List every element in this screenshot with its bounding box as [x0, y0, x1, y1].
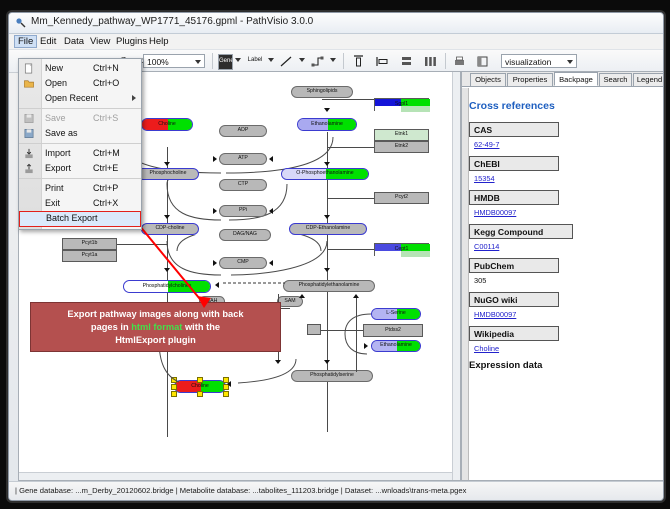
arrow-icon [213, 260, 217, 266]
menu-item-open-recent-label: Open Recent [45, 93, 98, 103]
annotation-callout: Export pathway images along with back pa… [30, 302, 281, 352]
menu-separator [19, 178, 141, 179]
menu-item-import[interactable]: Import Ctrl+M [19, 146, 141, 161]
menu-help[interactable]: Help [146, 36, 172, 47]
chevron-right-icon [132, 95, 136, 101]
align-left-icon[interactable] [375, 54, 390, 69]
canvas-vertical-scrollbar[interactable] [452, 72, 460, 480]
node-dag-nag[interactable]: DAG/NAG [219, 229, 271, 241]
menu-item-save-as[interactable]: Save as [19, 126, 141, 141]
menu-separator [19, 143, 141, 144]
menu-item-exit-label: Exit [45, 198, 60, 208]
menu-item-export-label: Export [45, 163, 71, 173]
arrow-icon [324, 162, 330, 166]
arrow-icon [324, 268, 330, 272]
side-panel-tabstrip: Objects Properties Backpage Search Legen… [462, 72, 663, 87]
arrow-icon [269, 260, 273, 266]
xref-value-hmdb[interactable]: HMDB00097 [474, 208, 657, 217]
arrow-icon [324, 360, 330, 364]
xref-value-wikipedia[interactable]: Choline [474, 344, 657, 353]
arrow-icon [269, 208, 273, 214]
xref-value-chebi[interactable]: 15354 [474, 174, 657, 183]
tab-search[interactable]: Search [599, 73, 632, 86]
xref-value-cas[interactable]: 62-49-7 [474, 140, 657, 149]
selection-handle[interactable] [171, 391, 177, 397]
xref-value-nugo[interactable]: HMDB00097 [474, 310, 657, 319]
menu-item-exit-accel: Ctrl+X [93, 198, 118, 208]
arrow-icon [164, 268, 170, 272]
menu-item-save-accel: Ctrl+S [93, 113, 118, 123]
line-dropdown-icon[interactable] [299, 58, 305, 62]
menu-item-print-label: Print [45, 183, 64, 193]
menu-data[interactable]: Data [61, 36, 87, 47]
node-adp[interactable]: ADP [219, 125, 267, 137]
xref-group-hmdb: HMDB HMDB00097 [469, 190, 657, 217]
xref-value-kegg[interactable]: C00114 [474, 242, 657, 251]
xref-label-hmdb: HMDB [469, 190, 559, 205]
visualization-combobox[interactable]: visualization [501, 54, 577, 68]
tab-properties[interactable]: Properties [507, 73, 553, 86]
menu-item-open-recent[interactable]: Open Recent [19, 91, 141, 106]
status-bar: | Gene database: ...m_Derby_20120602.bri… [9, 481, 663, 500]
callout-line-2a: pages in [91, 322, 131, 332]
node-pcyt1a[interactable]: Pcyt1a [62, 250, 117, 262]
edge-pemt-dashed [211, 277, 291, 291]
xref-group-nugo: NuGO wiki HMDB00097 [469, 292, 657, 319]
xref-label-pubchem: PubChem [469, 258, 559, 273]
callout-line-3: HtmlExport plugin [115, 335, 196, 345]
node-phosphatidylethanolamine[interactable]: Phosphatidylethanolamine [283, 280, 375, 292]
new-file-icon [23, 63, 35, 74]
node-ppi[interactable]: PPi [219, 205, 267, 217]
node-cdp-choline[interactable]: CDP-choline [141, 223, 199, 235]
backpage-content: Cross references CAS 62-49-7 ChEBI 15354… [469, 88, 657, 480]
stack-vertical-icon[interactable] [399, 54, 414, 69]
node-phosphatidylcholines[interactable]: Phosphatidylcholines [123, 280, 211, 293]
callout-html-format: html format [131, 322, 182, 332]
xref-group-pubchem: PubChem 305 [469, 258, 657, 285]
menu-item-export-accel: Ctrl+E [93, 163, 118, 173]
menu-separator [19, 108, 141, 109]
node-sphingolipids[interactable]: Sphingolipids [291, 86, 353, 98]
arrow-icon [213, 156, 217, 162]
node-etnk1[interactable]: Etnk1 [374, 129, 429, 141]
zoom-value: 100% [147, 57, 169, 67]
align-top-icon[interactable] [351, 54, 366, 69]
screenshot-root: Mm_Kennedy_pathway_WP1771_45176.gpml - P… [0, 0, 670, 509]
callout-line-2c: with the [182, 322, 220, 332]
edge-ps-to-choline [224, 357, 304, 389]
toggle-sidebar-icon[interactable] [475, 54, 490, 69]
print-icon[interactable] [452, 54, 467, 69]
interaction-tool-icon[interactable] [310, 54, 325, 69]
menu-item-new[interactable]: New Ctrl+N [19, 61, 141, 76]
node-pcyt1b[interactable]: Pcyt1b [62, 238, 117, 250]
visualization-value: visualization [505, 57, 551, 67]
file-menu-dropdown[interactable]: New Ctrl+N Open Ctrl+O Open Recent Save … [18, 58, 142, 230]
node-o-phosphoethanolamine[interactable]: O-Phosphoethanolamine [281, 168, 369, 180]
expression-data-heading: Expression data [469, 360, 657, 371]
distribute-icon[interactable] [423, 54, 438, 69]
node-cdp-ethanolamine[interactable]: CDP-Ethanolamine [289, 223, 367, 235]
menu-item-export[interactable]: Export Ctrl+E [19, 161, 141, 176]
import-icon [23, 148, 35, 159]
menu-bar: File Edit Data View Plugins Help [9, 34, 663, 50]
open-folder-icon [23, 78, 35, 89]
datanode-dropdown-icon[interactable] [235, 58, 241, 62]
chevron-down-icon [195, 60, 201, 64]
application-window: Mm_Kennedy_pathway_WP1771_45176.gpml - P… [8, 12, 664, 501]
window-title: Mm_Kennedy_pathway_WP1771_45176.gpml - P… [31, 16, 313, 27]
menu-item-exit[interactable]: Exit Ctrl+X [19, 196, 141, 211]
node-cept1[interactable]: Cept1 [374, 243, 429, 256]
menu-plugins[interactable]: Plugins [113, 36, 150, 47]
tab-legend[interactable]: Legend [633, 73, 664, 86]
xref-label-nugo: NuGO wiki [469, 292, 559, 307]
menu-item-open[interactable]: Open Ctrl+O [19, 76, 141, 91]
arrow-icon [324, 215, 330, 219]
canvas-horizontal-scrollbar[interactable] [19, 472, 460, 480]
chevron-down-icon [567, 60, 573, 64]
menu-item-batch-export-label: Batch Export [46, 213, 98, 223]
menu-item-open-label: Open [45, 78, 67, 88]
arrow-icon [299, 294, 305, 298]
interaction-dropdown-icon[interactable] [330, 58, 336, 62]
menu-view[interactable]: View [87, 36, 113, 47]
node-phosphocholine[interactable]: Phosphocholine [137, 168, 199, 180]
node-ctp[interactable]: CTP [219, 179, 267, 191]
selection-handle[interactable] [197, 391, 203, 397]
callout-line-1: Export pathway images along with back [67, 309, 243, 319]
zoom-combobox[interactable]: 100% [143, 54, 205, 68]
title-bar: Mm_Kennedy_pathway_WP1771_45176.gpml - P… [9, 13, 663, 34]
xref-label-chebi: ChEBI [469, 156, 559, 171]
arrow-icon [164, 215, 170, 219]
edge-ptdss2-curves [335, 308, 379, 360]
xref-label-kegg: Kegg Compound [469, 224, 573, 239]
menu-item-import-accel: Ctrl+M [93, 148, 120, 158]
menu-file[interactable]: File [14, 35, 37, 48]
arrow-icon [227, 381, 231, 387]
export-icon [23, 163, 35, 174]
menu-item-import-label: Import [45, 148, 71, 158]
node-etnk2[interactable]: Etnk2 [374, 141, 429, 153]
pathvisio-app-icon [15, 17, 27, 29]
arrow-icon [269, 156, 273, 162]
side-panel-scrollbar[interactable] [462, 88, 469, 480]
node-atp[interactable]: ATP [219, 153, 267, 165]
label-dropdown-icon[interactable] [268, 58, 274, 62]
menu-item-print-accel: Ctrl+P [93, 183, 118, 193]
cross-references-heading: Cross references [469, 100, 657, 112]
save-as-icon [23, 128, 35, 139]
xref-group-cas: CAS 62-49-7 [469, 122, 657, 149]
arrow-icon [324, 108, 330, 112]
tab-objects[interactable]: Objects [470, 73, 506, 86]
xref-group-kegg: Kegg Compound C00114 [469, 224, 657, 251]
node-anchor-box[interactable] [307, 324, 321, 335]
node-cmp[interactable]: CMP [219, 257, 267, 269]
menu-edit[interactable]: Edit [37, 36, 59, 47]
xref-label-wikipedia: Wikipedia [469, 326, 559, 341]
arrow-icon [164, 162, 170, 166]
menu-item-new-accel: Ctrl+N [93, 63, 119, 73]
menu-item-batch-export[interactable]: Batch Export [19, 211, 141, 227]
node-sgpl1[interactable]: Sgpl1 [374, 98, 429, 111]
side-panel: Objects Properties Backpage Search Legen… [461, 71, 664, 481]
datanode-tool-button[interactable]: Gene [218, 54, 233, 70]
xref-label-cas: CAS [469, 122, 559, 137]
selection-handle[interactable] [223, 391, 229, 397]
menu-item-save[interactable]: Save Ctrl+S [19, 111, 141, 126]
menu-item-new-label: New [45, 63, 63, 73]
xref-group-chebi: ChEBI 15354 [469, 156, 657, 183]
save-disk-icon [23, 113, 35, 124]
line-tool-icon[interactable] [279, 54, 294, 69]
node-pcyt2[interactable]: Pcyt2 [374, 192, 429, 204]
menu-item-save-label: Save [45, 113, 66, 123]
arrow-icon [364, 343, 368, 349]
arrow-icon [213, 208, 217, 214]
menu-item-print[interactable]: Print Ctrl+P [19, 181, 141, 196]
label-tool-button[interactable]: Label [245, 54, 265, 68]
xref-group-wikipedia: Wikipedia Choline [469, 326, 657, 353]
menu-item-save-as-label: Save as [45, 128, 78, 138]
menu-item-open-accel: Ctrl+O [93, 78, 119, 88]
status-bar-text: | Gene database: ...m_Derby_20120602.bri… [15, 486, 466, 495]
xref-value-pubchem: 305 [474, 276, 657, 285]
tab-backpage[interactable]: Backpage [554, 72, 598, 86]
